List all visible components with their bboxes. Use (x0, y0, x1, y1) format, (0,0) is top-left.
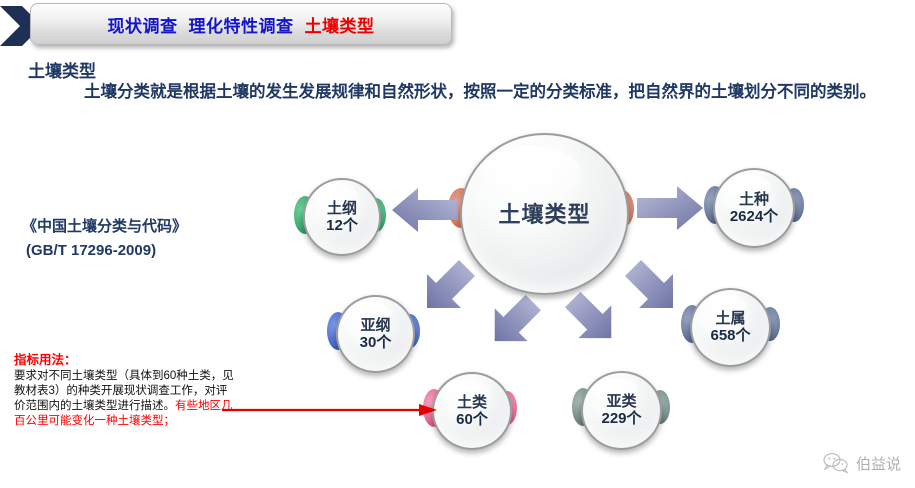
node-yalei[interactable]: 亚类 229个 (581, 371, 662, 450)
banner-item-2: 土壤类型 (305, 12, 375, 37)
arrow-to-tushu (625, 256, 681, 312)
standard-reference: 《中国土壤分类与代码》 (GB/T 17296-2009) (22, 215, 272, 263)
node-tushu[interactable]: 土属 658个 (690, 288, 771, 367)
title-banner: 现状调查 理化特性调查 土壤类型 (30, 3, 452, 45)
red-pointer-arrow (222, 400, 437, 420)
node-center[interactable]: 土壤类型 (460, 133, 629, 295)
watermark-text: 伯益说 (856, 453, 901, 474)
node-tushu-label: 土属 (715, 310, 745, 327)
node-yalei-count: 229个 (601, 410, 641, 428)
node-yagang[interactable]: 亚纲 30个 (336, 295, 415, 373)
node-tugang-count: 12个 (326, 217, 358, 235)
node-tulei[interactable]: 土类 60个 (432, 372, 512, 450)
node-tulei-count: 60个 (456, 411, 488, 429)
node-yagang-count: 30个 (360, 334, 392, 352)
banner-item-0: 现状调查 (108, 12, 178, 37)
wechat-icon (823, 452, 849, 474)
intro-paragraph: 土壤分类就是根据土壤的发生发展规律和自然形状，按照一定的分类标准，把自然界的土壤… (28, 80, 888, 104)
indicator-usage-heading: 指标用法： (14, 353, 236, 368)
node-tuzhong[interactable]: 土种 2624个 (713, 168, 795, 248)
section-title: 土壤类型 (28, 57, 96, 82)
node-tuzhong-count: 2624个 (730, 208, 778, 226)
arrow-to-yalei (565, 288, 619, 342)
node-yalei-label: 亚类 (606, 393, 636, 410)
node-tugang-label: 土纲 (327, 200, 357, 217)
arrow-to-tugang (392, 188, 458, 232)
node-center-label: 土壤类型 (498, 206, 590, 223)
slide-canvas: 现状调查 理化特性调查 土壤类型 土壤类型 土壤分类就是根据土壤的发生发展规律和… (0, 0, 915, 488)
node-yagang-label: 亚纲 (360, 317, 390, 334)
node-tushu-count: 658个 (710, 327, 750, 345)
watermark: 伯益说 (823, 452, 901, 474)
standard-name: 《中国土壤分类与代码》 (22, 215, 272, 239)
node-tugang[interactable]: 土纲 12个 (303, 178, 381, 256)
node-tuzhong-label: 土种 (739, 191, 769, 208)
standard-code: (GB/T 17296-2009) (26, 239, 272, 263)
arrow-to-tulei (487, 291, 541, 345)
node-tulei-label: 土类 (457, 394, 487, 411)
indicator-usage-note: 指标用法： 要求对不同土壤类型（具体到60种土类，见教材表3）的种类开展现状调查… (14, 353, 236, 429)
arrow-to-tuzhong (637, 186, 703, 230)
arrow-to-yagang (423, 258, 479, 314)
banner-item-1: 理化特性调查 (189, 12, 294, 37)
